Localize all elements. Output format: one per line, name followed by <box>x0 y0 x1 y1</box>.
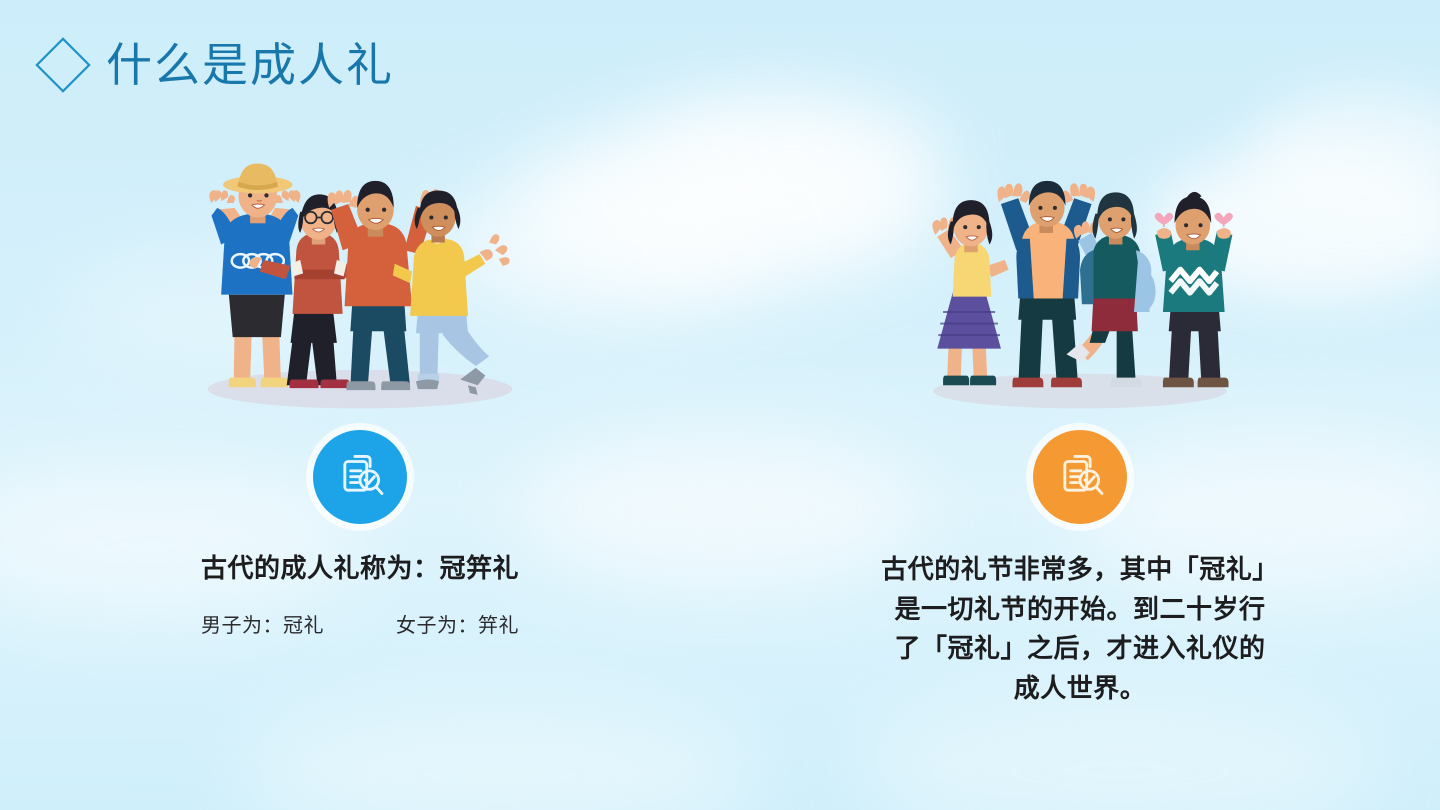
right-caption-text: 古代的礼节非常多，其中「冠礼」 是一切礼节的开始。到二十岁行 了「冠礼」之后，才… <box>860 550 1300 708</box>
clipboard-magnifier-check-icon <box>1053 448 1107 507</box>
left-panel: 古代的成人礼称为：冠笄礼 男子为：冠礼 女子为：笄礼 <box>0 150 720 790</box>
person-chevron-sweater <box>1155 192 1233 387</box>
caption-item-male: 男子为：冠礼 <box>201 609 324 638</box>
right-caption-line: 是一切礼节的开始。到二十岁行 <box>860 590 1300 630</box>
left-caption-sub: 男子为：冠礼 女子为：笄礼 <box>120 609 600 638</box>
content-columns: 古代的成人礼称为：冠笄礼 男子为：冠礼 女子为：笄礼 <box>0 150 1440 790</box>
left-caption-main: 古代的成人礼称为：冠笄礼 <box>120 550 600 587</box>
right-caption-line: 成人世界。 <box>860 669 1300 709</box>
four-young-people-celebrating-illustration <box>880 150 1280 420</box>
slide-header: 什么是成人礼 <box>34 36 394 94</box>
right-panel: 古代的礼节非常多，其中「冠礼」 是一切礼节的开始。到二十岁行 了「冠礼」之后，才… <box>720 150 1440 790</box>
left-caption-block: 古代的成人礼称为：冠笄礼 男子为：冠礼 女子为：笄礼 <box>120 550 600 638</box>
diamond-outline-icon <box>34 36 92 94</box>
person-purple-skirt <box>932 200 1008 385</box>
right-caption-line: 古代的礼节非常多，其中「冠礼」 <box>860 550 1300 590</box>
four-young-people-cheering-illustration <box>160 150 560 420</box>
left-badge <box>313 430 407 524</box>
right-badge <box>1033 430 1127 524</box>
right-caption-line: 了「冠礼」之后，才进入礼仪的 <box>860 629 1300 669</box>
caption-item-female: 女子为：笄礼 <box>396 609 519 638</box>
slide-root: 什么是成人礼 <box>0 0 1440 810</box>
right-caption-block: 古代的礼节非常多，其中「冠礼」 是一切礼节的开始。到二十岁行 了「冠礼」之后，才… <box>840 550 1320 708</box>
clipboard-magnifier-check-icon <box>333 448 387 507</box>
page-title: 什么是成人礼 <box>106 42 394 88</box>
